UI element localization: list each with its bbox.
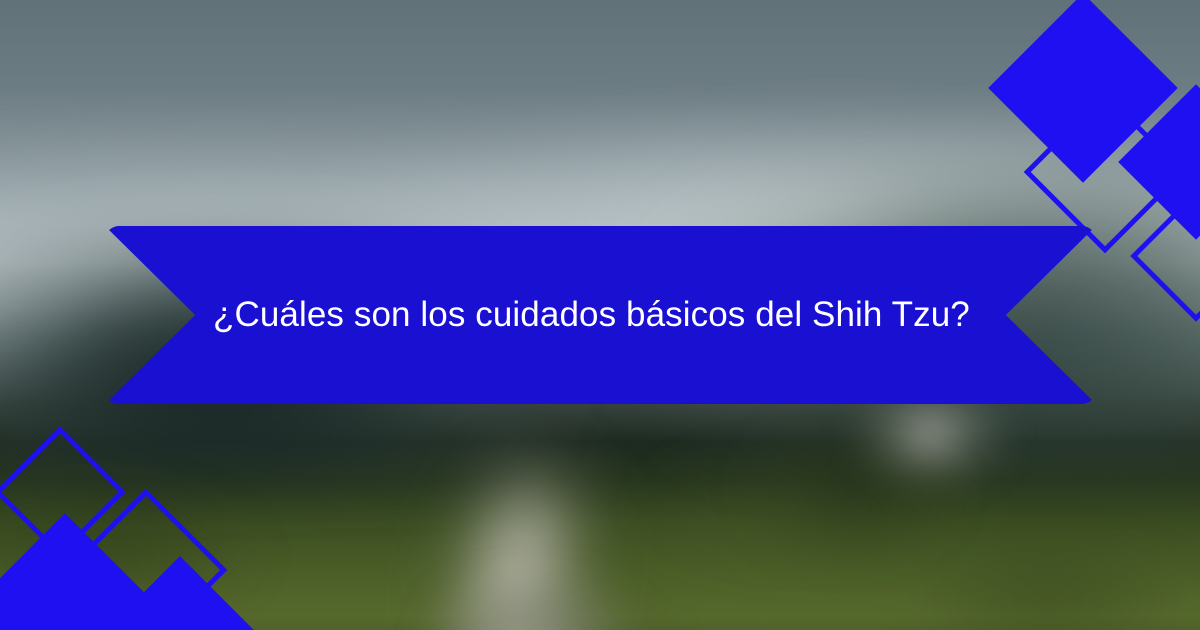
social-share-card: ¿Cuáles son los cuidados básicos del Shi… <box>0 0 1200 630</box>
headline-banner: ¿Cuáles son los cuidados básicos del Shi… <box>105 226 1096 404</box>
headline-text: ¿Cuáles son los cuidados básicos del Shi… <box>105 226 1096 404</box>
